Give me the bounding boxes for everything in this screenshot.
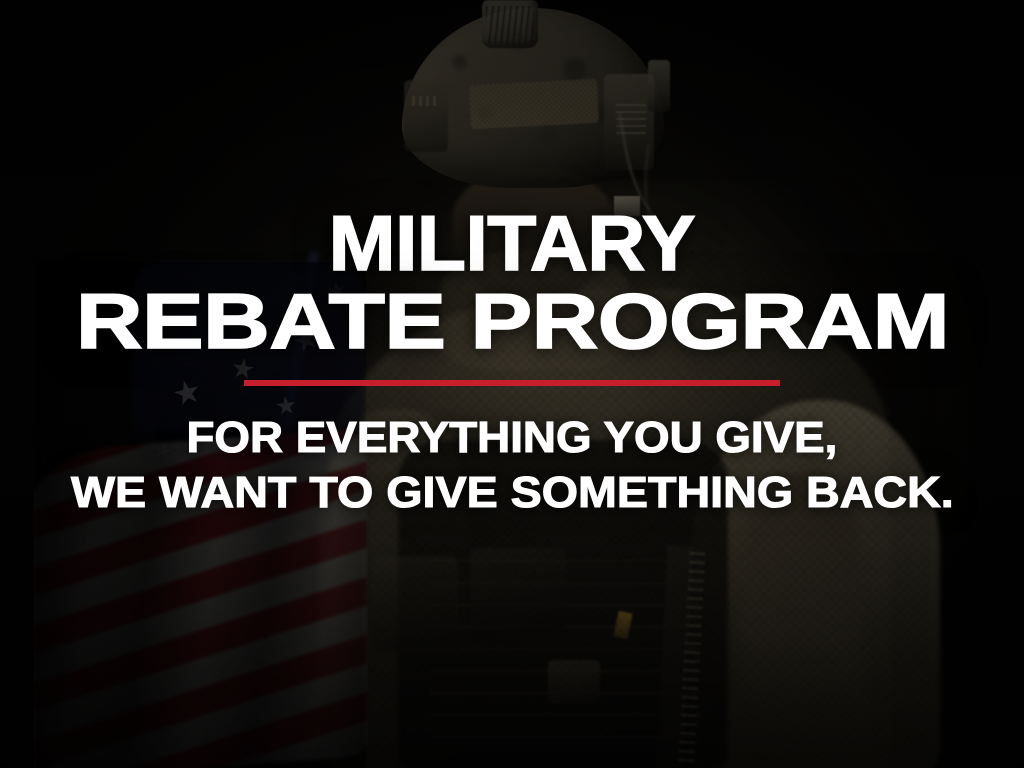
headline-line-2: REBATE PROGRAM <box>75 286 948 358</box>
red-divider-rule <box>244 380 780 386</box>
military-rebate-poster: MILITARY REBATE PROGRAM FOR EVERYTHING Y… <box>0 0 1024 768</box>
poster-text-block: MILITARY REBATE PROGRAM FOR EVERYTHING Y… <box>0 0 1024 768</box>
subheadline-line-2: WE WANT TO GIVE SOMETHING BACK. <box>71 469 954 517</box>
subheadline-line-1: FOR EVERYTHING YOU GIVE, <box>187 414 838 462</box>
headline-line-1: MILITARY <box>329 208 695 280</box>
